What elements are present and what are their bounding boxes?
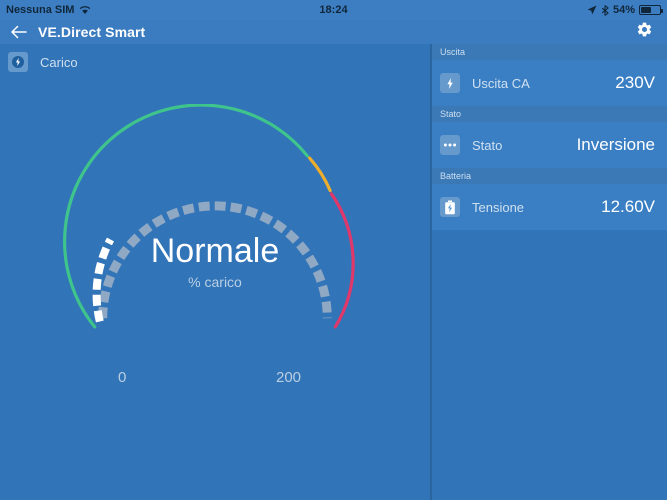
app-bar: VE.Direct Smart (0, 20, 667, 44)
gauge-svg (55, 104, 375, 354)
row-stato[interactable]: Stato Inversione (432, 122, 667, 168)
row-label-uscita-ca: Uscita CA (472, 76, 615, 91)
page-title: VE.Direct Smart (38, 24, 145, 40)
back-arrow-icon (11, 25, 27, 39)
load-header-row: Carico (0, 46, 430, 78)
gauge-pane: Carico (0, 44, 430, 500)
back-button[interactable] (0, 20, 38, 44)
details-pane: Uscita Uscita CA 230V Stato (432, 44, 667, 500)
battery-percent-label: 54% (613, 4, 635, 16)
content-area: Carico (0, 44, 667, 500)
section-header-uscita: Uscita (432, 44, 667, 60)
status-bar: Nessuna SIM 18:24 54% (0, 0, 667, 20)
status-bar-right: 54% (587, 4, 661, 16)
status-bar-clock: 18:24 (0, 4, 667, 16)
section-header-stato: Stato (432, 106, 667, 122)
app-window: Nessuna SIM 18:24 54% (0, 0, 667, 500)
dots-icon (440, 135, 460, 155)
row-label-tensione: Tensione (472, 200, 601, 215)
battery-bolt-icon (440, 197, 460, 217)
gear-icon (636, 21, 653, 43)
section-header-batteria: Batteria (432, 168, 667, 184)
row-uscita-ca[interactable]: Uscita CA 230V (432, 60, 667, 106)
gauge-min-label: 0 (118, 369, 126, 386)
row-label-stato: Stato (472, 138, 577, 153)
settings-button[interactable] (629, 20, 659, 44)
row-value-uscita-ca: 230V (615, 73, 655, 93)
bolt-icon (440, 73, 460, 93)
load-gauge: Normale % carico 0 200 (0, 104, 430, 394)
load-header-label: Carico (40, 55, 78, 70)
bluetooth-icon (601, 5, 609, 16)
battery-fill (641, 7, 651, 13)
row-tensione[interactable]: Tensione 12.60V (432, 184, 667, 230)
location-arrow-icon (587, 5, 597, 15)
power-bolt-circle-icon (8, 52, 28, 72)
gauge-max-label: 200 (276, 369, 301, 386)
row-value-stato: Inversione (577, 135, 655, 155)
battery-icon (639, 5, 661, 15)
gauge-track (103, 206, 328, 318)
row-value-tensione: 12.60V (601, 197, 655, 217)
